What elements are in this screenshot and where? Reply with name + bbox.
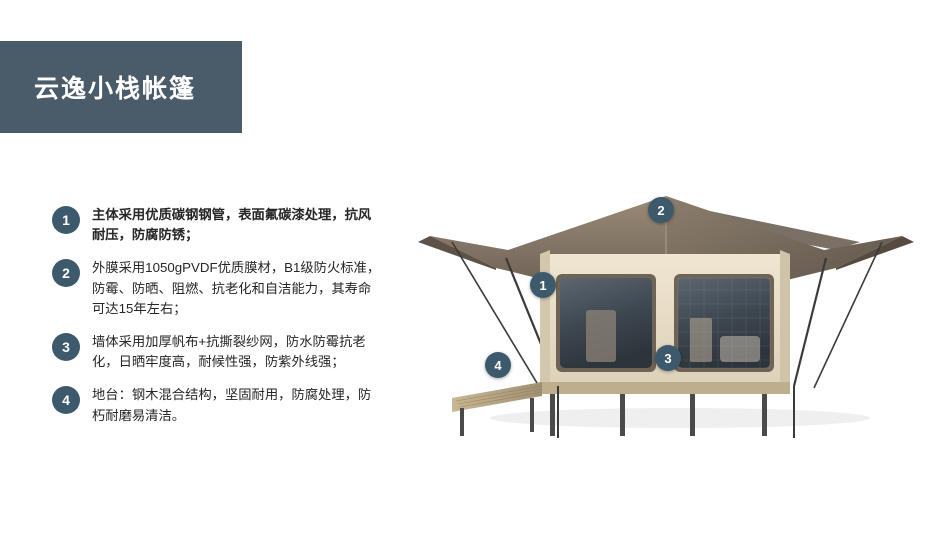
feature-text-3: 墙体采用加厚帆布+抗撕裂纱网，防水防霉抗老化，日晒牢度高，耐候性强，防紫外线强； xyxy=(92,332,382,372)
feature-text-4: 地台：钢木混合结构，坚固耐用，防腐处理，防朽耐磨易清洁。 xyxy=(92,385,382,425)
slide-root: 云逸小栈帐篷 1 主体采用优质碳钢钢管，表面氟碳漆处理，抗风耐压，防腐防锈； 2… xyxy=(0,0,950,534)
page-title: 云逸小栈帐篷 xyxy=(34,69,196,105)
tent-illustration xyxy=(390,150,938,450)
tent-wall-edge-left xyxy=(540,250,550,382)
feature-list: 1 主体采用优质碳钢钢管，表面氟碳漆处理，抗风耐压，防腐防锈； 2 外膜采用10… xyxy=(52,205,382,439)
stilt-4 xyxy=(762,394,767,436)
feature-text-1: 主体采用优质碳钢钢管，表面氟碳漆处理，抗风耐压，防腐防锈； xyxy=(92,205,382,245)
stilt-deck-left xyxy=(460,408,464,436)
hotspot-4[interactable]: 4 xyxy=(485,352,511,378)
feature-badge-2: 2 xyxy=(52,259,80,287)
list-item: 1 主体采用优质碳钢钢管，表面氟碳漆处理，抗风耐压，防腐防锈； xyxy=(52,205,382,245)
hotspot-2[interactable]: 2 xyxy=(648,197,674,223)
feature-badge-3: 3 xyxy=(52,333,80,361)
tent-photo: 1 2 3 4 xyxy=(390,150,938,450)
stilt-3 xyxy=(690,394,695,436)
deck-front xyxy=(540,382,790,394)
list-item: 4 地台：钢木混合结构，坚固耐用，防腐处理，防朽耐磨易清洁。 xyxy=(52,385,382,425)
stilt-1 xyxy=(550,394,555,436)
ground-shadow xyxy=(490,408,870,428)
cable-right xyxy=(794,258,826,386)
hotspot-1[interactable]: 1 xyxy=(530,272,556,298)
hotspot-3[interactable]: 3 xyxy=(655,345,681,371)
list-item: 3 墙体采用加厚帆布+抗撕裂纱网，防水防霉抗老化，日晒牢度高，耐候性强，防紫外线… xyxy=(52,332,382,372)
stilt-2 xyxy=(620,394,625,436)
list-item: 2 外膜采用1050gPVDF优质膜材，B1级防火标准，防霉、防晒、阻燃、抗老化… xyxy=(52,258,382,319)
tent-wall-edge-right xyxy=(780,250,790,382)
title-block: 云逸小栈帐篷 xyxy=(0,41,242,133)
stilt-deck-right xyxy=(530,398,534,432)
feature-badge-1: 1 xyxy=(52,206,80,234)
interior-lamp xyxy=(690,318,712,362)
feature-text-2: 外膜采用1050gPVDF优质膜材，B1级防火标准，防霉、防晒、阻燃、抗老化和自… xyxy=(92,258,382,319)
interior-furniture xyxy=(586,310,616,362)
feature-badge-4: 4 xyxy=(52,386,80,414)
interior-sofa xyxy=(720,336,760,362)
